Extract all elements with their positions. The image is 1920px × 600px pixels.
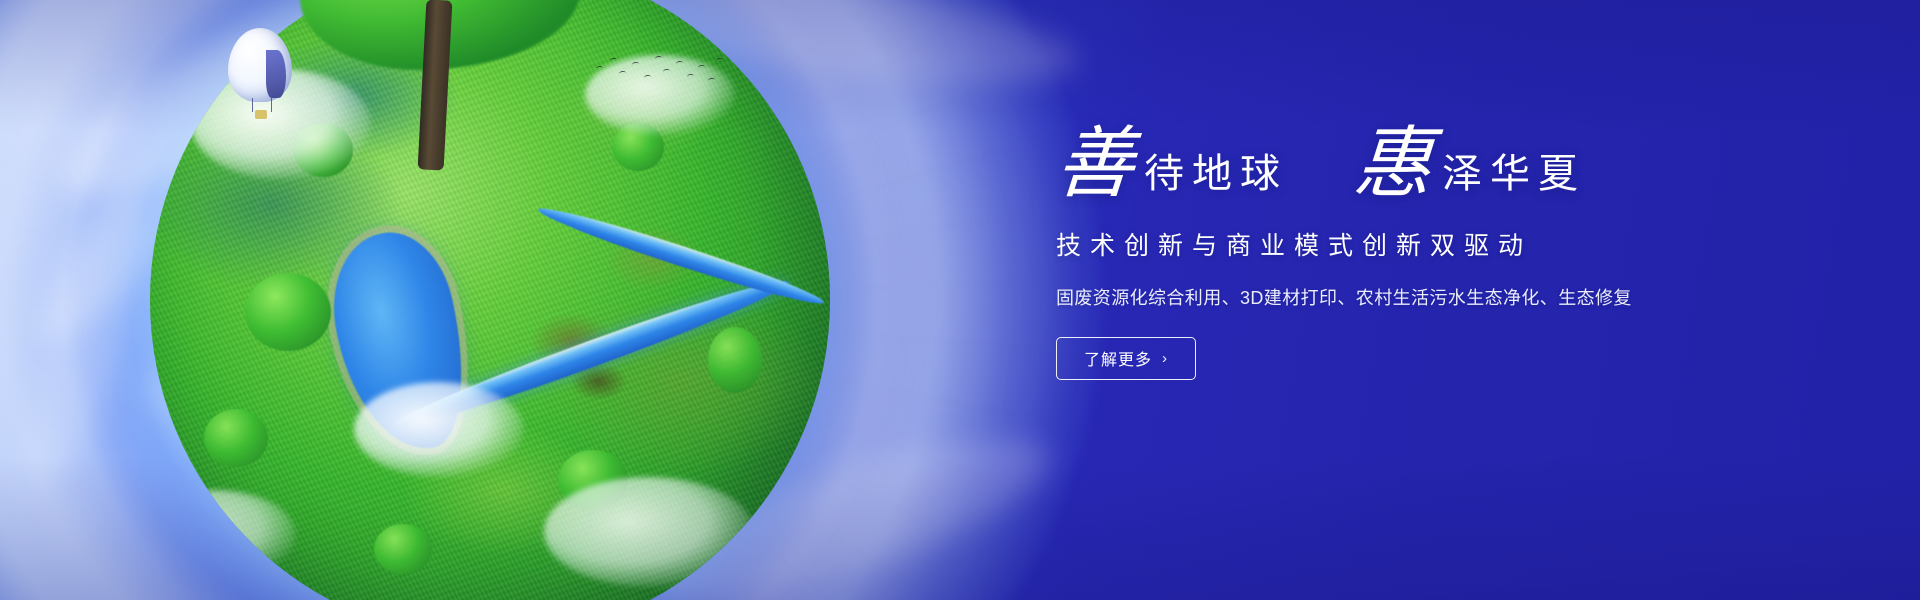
bird-icon (708, 78, 716, 84)
bird-icon (655, 56, 663, 62)
bird-icon (596, 66, 604, 72)
subtitle: 技术创新与商业模式创新双驱动 (1056, 226, 1846, 262)
description-text: 固废资源化综合利用、3D建材打印、农村生活污水生态净化、生态修复 (1056, 284, 1846, 310)
headline-big-char-2: 惠 (1352, 128, 1441, 200)
learn-more-button[interactable]: 了解更多 › (1056, 337, 1196, 380)
bird-icon (663, 69, 671, 75)
headline-big-char-1: 善 (1053, 128, 1142, 200)
bird-icon (610, 58, 618, 64)
bird-icon (619, 71, 627, 77)
page-title: 善 待地球 惠 泽华夏 (1056, 128, 1846, 200)
hero-copy: 善 待地球 惠 泽华夏 技术创新与商业模式创新双驱动 固废资源化综合利用、3D建… (1056, 128, 1846, 380)
chevron-right-icon: › (1162, 351, 1168, 366)
bird-flock-icon (592, 52, 722, 94)
bird-icon (687, 74, 695, 80)
bird-icon (632, 62, 640, 68)
learn-more-label: 了解更多 (1084, 346, 1152, 370)
headline-small-text-1: 待地球 (1140, 154, 1288, 200)
surface-cloud (354, 382, 524, 477)
bird-icon (698, 65, 706, 71)
balloon-basket (255, 110, 267, 119)
tree-clump (708, 327, 762, 393)
bird-icon (644, 75, 652, 81)
hot-air-balloon-icon (228, 28, 292, 124)
headline-small-text-2: 泽华夏 (1438, 154, 1586, 200)
balloon-stripe (266, 50, 286, 98)
bird-icon (716, 58, 724, 64)
tree-clump (245, 273, 331, 351)
hero-banner: 善 待地球 惠 泽华夏 技术创新与商业模式创新双驱动 固废资源化综合利用、3D建… (0, 0, 1920, 600)
surface-cloud (544, 477, 754, 587)
bird-icon (676, 61, 684, 67)
tree-clump (204, 409, 268, 467)
